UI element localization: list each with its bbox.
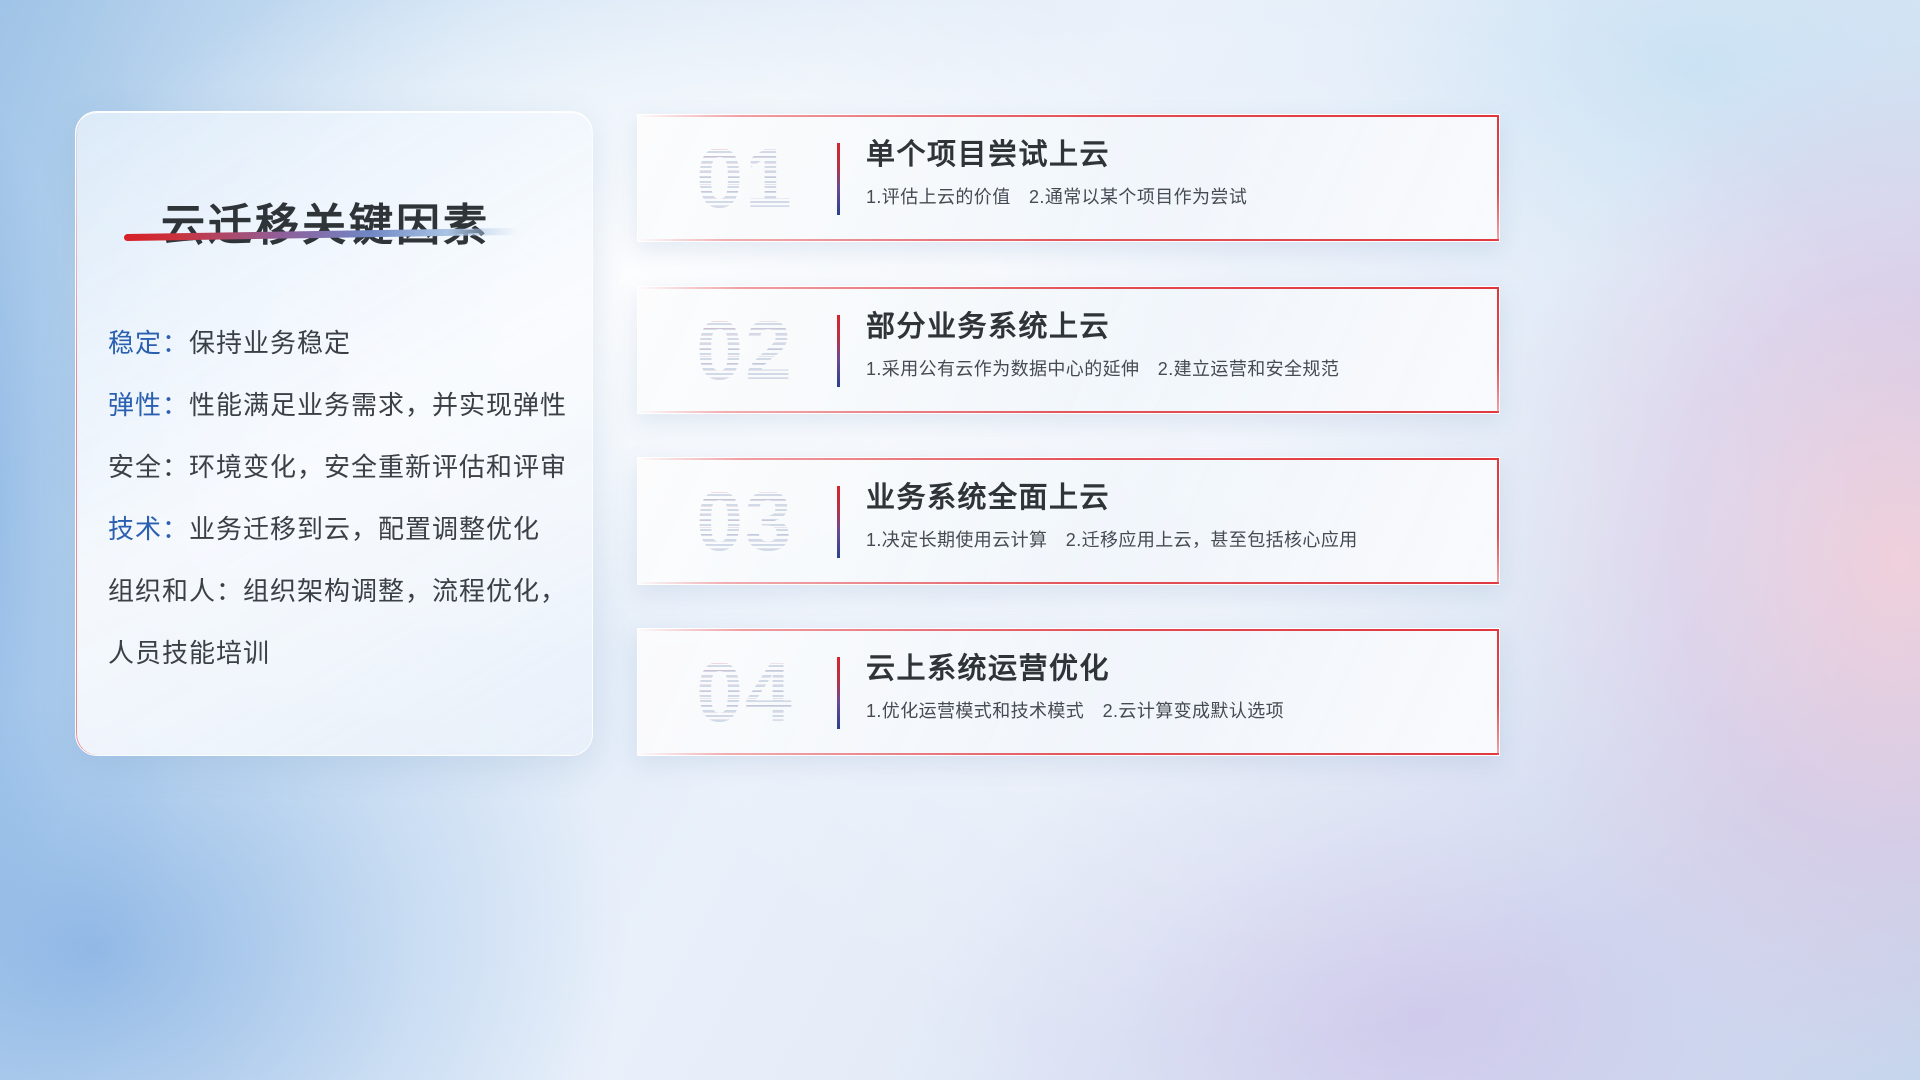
card-accent-right — [1497, 629, 1499, 755]
stage-body: 部分业务系统上云 1.采用公有云作为数据中心的延伸 2.建立运营和安全规范 — [866, 307, 1481, 382]
card-accent-top — [638, 458, 1499, 460]
stage-divider-bar — [837, 486, 840, 558]
factor-label: 组织和人： — [108, 576, 243, 606]
factor-label: 安全： — [108, 452, 189, 482]
stage-divider-bar — [837, 143, 840, 215]
stage-body: 业务系统全面上云 1.决定长期使用云计算 2.迁移应用上云，甚至包括核心应用 — [866, 478, 1481, 553]
stage-number-watermark: 03 — [660, 464, 830, 578]
stage-subtitle: 1.采用公有云作为数据中心的延伸 2.建立运营和安全规范 — [866, 356, 1481, 382]
card-accent-right — [1497, 115, 1499, 241]
factor-text: 保持业务稳定 — [189, 328, 351, 358]
page-title: 云迁移关键因素 — [161, 189, 490, 253]
stage-card-03[interactable]: 03 03 业务系统全面上云 1.决定长期使用云计算 2.迁移应用上云，甚至包括… — [637, 457, 1500, 585]
stage-number-watermark-tint: 01 — [660, 121, 830, 235]
card-accent-bottom — [638, 582, 1499, 584]
factor-text: 组织架构调整，流程优化， — [243, 576, 567, 606]
stage-number-watermark: 04 — [660, 635, 830, 749]
stage-card-02[interactable]: 02 02 部分业务系统上云 1.采用公有云作为数据中心的延伸 2.建立运营和安… — [637, 286, 1500, 414]
card-accent-bottom — [638, 411, 1499, 413]
card-accent-bottom — [638, 753, 1499, 755]
card-accent-top — [638, 287, 1499, 289]
factor-text: 人员技能培训 — [108, 638, 270, 668]
stage-body: 单个项目尝试上云 1.评估上云的价值 2.通常以某个项目作为尝试 — [866, 135, 1481, 210]
factor-label: 稳定： — [108, 328, 189, 358]
key-factors-panel: 云迁移关键因素 稳定：保持业务稳定 弹性：性能满足业务需求，并实现弹性 安全：环… — [75, 111, 593, 756]
factor-text: 环境变化，安全重新评估和评审 — [189, 452, 567, 482]
list-item: 稳定：保持业务稳定 — [108, 312, 568, 374]
stage-subtitle: 1.评估上云的价值 2.通常以某个项目作为尝试 — [866, 184, 1481, 210]
stage-number-watermark-tint: 04 — [660, 635, 830, 749]
factor-text: 性能满足业务需求，并实现弹性 — [189, 390, 567, 420]
stage-number-watermark-tint: 03 — [660, 464, 830, 578]
stage-subtitle: 1.优化运营模式和技术模式 2.云计算变成默认选项 — [866, 698, 1481, 724]
card-accent-right — [1497, 287, 1499, 413]
list-item: 技术：业务迁移到云，配置调整优化 — [108, 498, 568, 560]
stage-number-watermark-tint: 02 — [660, 293, 830, 407]
stage-divider-bar — [837, 657, 840, 729]
stage-title: 单个项目尝试上云 — [866, 135, 1481, 175]
list-item: 弹性：性能满足业务需求，并实现弹性 — [108, 374, 568, 436]
stage-subtitle: 1.决定长期使用云计算 2.迁移应用上云，甚至包括核心应用 — [866, 527, 1481, 553]
list-item-continuation: 人员技能培训 — [108, 622, 568, 684]
factor-text: 业务迁移到云，配置调整优化 — [189, 514, 540, 544]
stage-body: 云上系统运营优化 1.优化运营模式和技术模式 2.云计算变成默认选项 — [866, 649, 1481, 724]
stage-number-watermark: 02 — [660, 293, 830, 407]
card-accent-right — [1497, 458, 1499, 584]
key-factor-list: 稳定：保持业务稳定 弹性：性能满足业务需求，并实现弹性 安全：环境变化，安全重新… — [108, 312, 568, 684]
stage-title: 云上系统运营优化 — [866, 649, 1481, 689]
list-item: 安全：环境变化，安全重新评估和评审 — [108, 436, 568, 498]
stage-card-01[interactable]: 01 01 单个项目尝试上云 1.评估上云的价值 2.通常以某个项目作为尝试 — [637, 114, 1500, 242]
stage-number-watermark: 01 — [660, 121, 830, 235]
factor-label: 技术： — [108, 514, 189, 544]
card-accent-bottom — [638, 239, 1499, 241]
list-item: 组织和人：组织架构调整，流程优化， — [108, 560, 568, 622]
card-accent-top — [638, 115, 1499, 117]
stage-title: 业务系统全面上云 — [866, 478, 1481, 518]
factor-label: 弹性： — [108, 390, 189, 420]
stage-card-04[interactable]: 04 04 云上系统运营优化 1.优化运营模式和技术模式 2.云计算变成默认选项 — [637, 628, 1500, 756]
stage-title: 部分业务系统上云 — [866, 307, 1481, 347]
card-accent-top — [638, 629, 1499, 631]
stage-divider-bar — [837, 315, 840, 387]
